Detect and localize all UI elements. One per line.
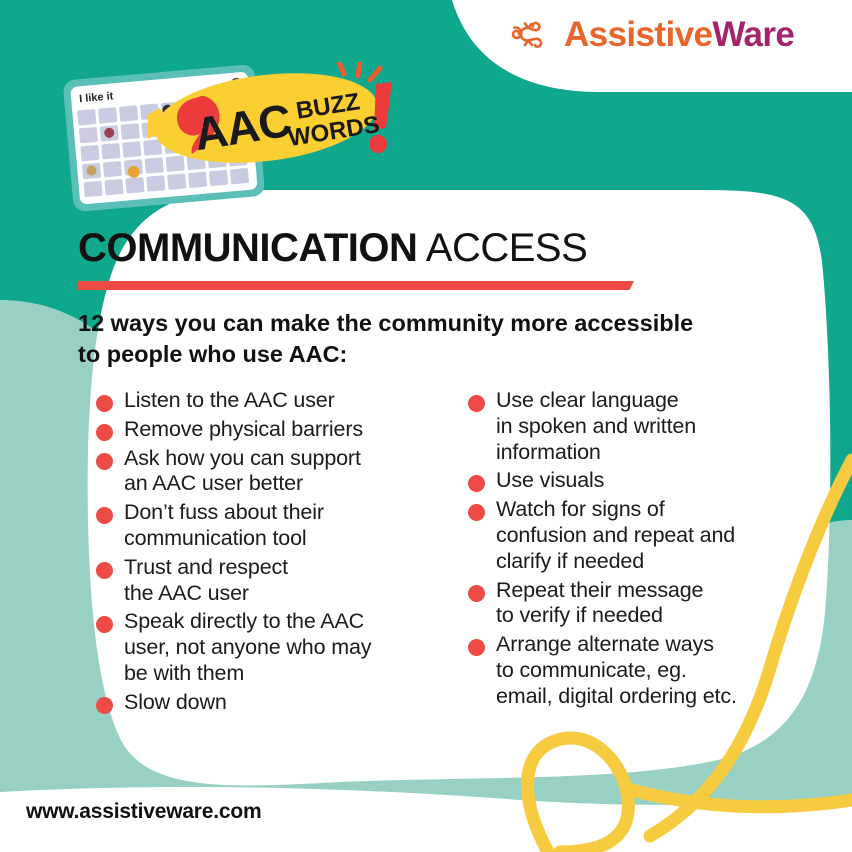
aac-buzz-words-badge: AAC BUZZ WORDS: [148, 62, 400, 172]
bullet-dot-icon: [96, 395, 113, 412]
badge-graphic: [148, 62, 400, 172]
bullet-dot-icon: [96, 697, 113, 714]
page-title: COMMUNICATION ACCESS: [78, 228, 587, 268]
page-subtitle: 12 ways you can make the community more …: [78, 308, 698, 370]
assistiveware-logo[interactable]: AssistiveWare: [508, 14, 794, 54]
title-underline-rule: [78, 281, 634, 290]
website-url[interactable]: www.assistiveware.com: [26, 800, 261, 824]
list-item: Listen to the AAC user: [96, 388, 426, 414]
bullet-dot-icon: [468, 504, 485, 521]
bullet-dot-icon: [96, 453, 113, 470]
list-item: Use visuals: [468, 468, 808, 494]
bullet-dot-icon: [96, 424, 113, 441]
list-item: Ask how you can support an AAC user bett…: [96, 446, 426, 498]
list-item: Slow down: [96, 690, 426, 716]
bullet-text: Watch for signs of confusion and repeat …: [496, 497, 735, 574]
bullet-columns: Listen to the AAC user Remove physical b…: [96, 388, 808, 719]
list-item: Repeat their message to verify if needed: [468, 578, 808, 630]
list-item: Trust and respect the AAC user: [96, 555, 426, 607]
list-item: Speak directly to the AAC user, not anyo…: [96, 609, 426, 686]
bullet-dot-icon: [96, 616, 113, 633]
list-item: Don’t fuss about their communication too…: [96, 500, 426, 552]
bullet-column-left: Listen to the AAC user Remove physical b…: [96, 388, 426, 719]
list-item: Use clear language in spoken and written…: [468, 388, 808, 465]
logo-wordmark: AssistiveWare: [564, 17, 794, 52]
bullet-dot-icon: [468, 639, 485, 656]
list-item: Remove physical barriers: [96, 417, 426, 443]
bullet-column-right: Use clear language in spoken and written…: [468, 388, 808, 719]
bullet-text: Listen to the AAC user: [124, 388, 335, 414]
bullet-text: Repeat their message to verify if needed: [496, 578, 703, 630]
list-item: Watch for signs of confusion and repeat …: [468, 497, 808, 574]
burst-lines-icon: [338, 62, 380, 80]
bullet-text: Slow down: [124, 690, 227, 716]
title-bold-part: COMMUNICATION: [78, 226, 417, 270]
bullet-dot-icon: [468, 585, 485, 602]
bullet-dot-icon: [96, 562, 113, 579]
gecko-icon: [508, 14, 554, 54]
bullet-text: Trust and respect the AAC user: [124, 555, 288, 607]
list-item: Arrange alternate ways to communicate, e…: [468, 632, 808, 709]
bullet-text: Arrange alternate ways to communicate, e…: [496, 632, 737, 709]
infographic-canvas: AssistiveWare I like it: [0, 0, 852, 852]
bullet-dot-icon: [468, 475, 485, 492]
bullet-text: Use clear language in spoken and written…: [496, 388, 696, 465]
title-light-part: ACCESS: [417, 226, 587, 270]
bullet-text: Don’t fuss about their communication too…: [124, 500, 324, 552]
bullet-text: Use visuals: [496, 468, 604, 494]
bullet-dot-icon: [96, 507, 113, 524]
logo-ware: Ware: [712, 15, 794, 54]
bullet-text: Ask how you can support an AAC user bett…: [124, 446, 361, 498]
logo-assistive: Assistive: [564, 15, 712, 54]
bullet-dot-icon: [468, 395, 485, 412]
bullet-text: Speak directly to the AAC user, not anyo…: [124, 609, 371, 686]
bullet-text: Remove physical barriers: [124, 417, 363, 443]
